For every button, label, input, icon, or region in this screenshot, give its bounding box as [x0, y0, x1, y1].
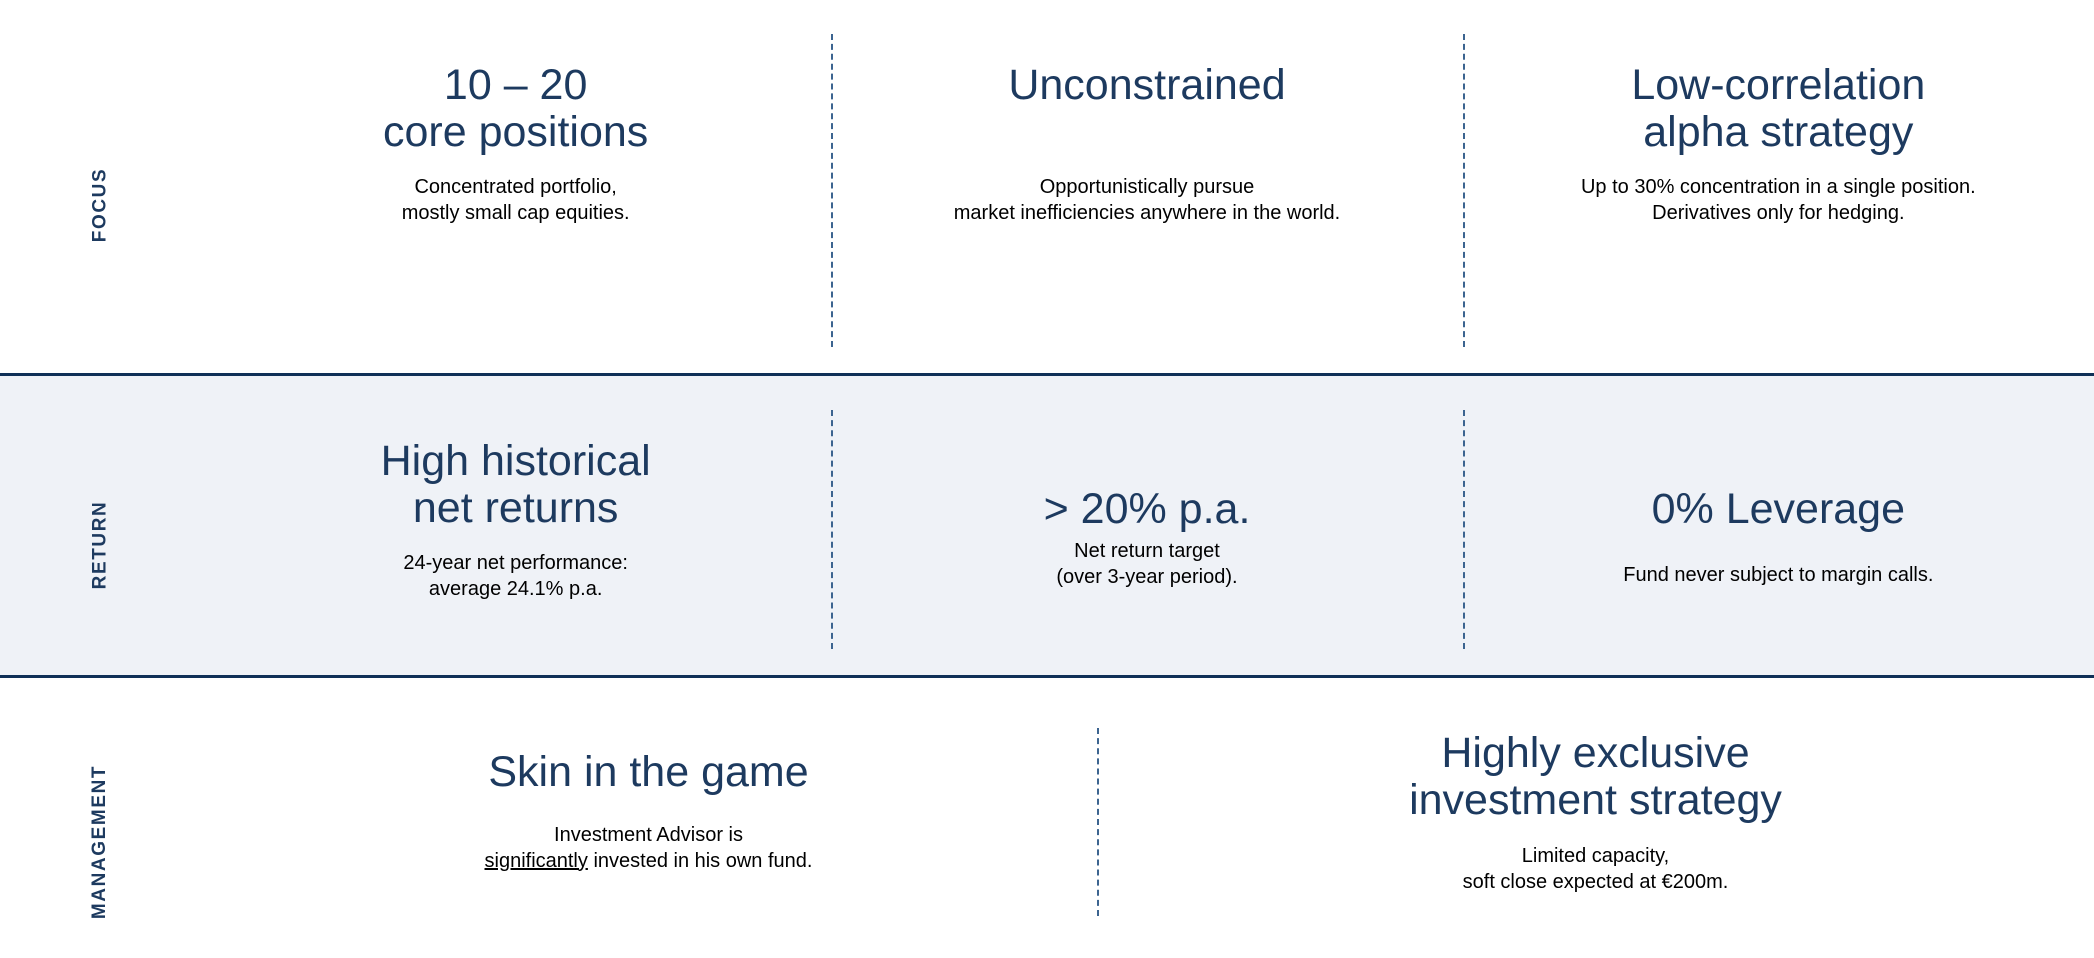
- row-management-columns: Skin in the game Investment Advisor is s…: [200, 678, 2094, 958]
- cell-focus-3-heading-line2: alpha strategy: [1643, 108, 1913, 156]
- cell-management-2-heading: Highly exclusive investment strategy: [1111, 730, 2080, 825]
- cell-management-1: Skin in the game Investment Advisor is s…: [200, 678, 1097, 958]
- cell-focus-1-body-line1: Concentrated portfolio,: [414, 176, 616, 198]
- cell-focus-1-heading: 10 – 20 core positions: [214, 62, 817, 157]
- cell-focus-3-body: Up to 30% concentration in a single posi…: [1477, 175, 2080, 226]
- cell-management-1-body-line1: Investment Advisor is: [554, 824, 743, 846]
- fund-highlights-board: FOCUS 10 – 20 core positions Concentrate…: [0, 0, 2094, 958]
- cell-management-2-heading-line1: Highly exclusive: [1441, 729, 1749, 777]
- cell-return-2-heading: > 20% p.a.: [845, 486, 1448, 533]
- cell-management-1-heading: Skin in the game: [214, 749, 1083, 796]
- cell-focus-1: 10 – 20 core positions Concentrated port…: [200, 0, 831, 373]
- cell-focus-3-heading: Low-correlation alpha strategy: [1477, 62, 2080, 157]
- cell-return-1: High historical net returns 24-year net …: [200, 376, 831, 675]
- cell-return-1-heading: High historical net returns: [214, 438, 817, 533]
- row-label-management: MANAGEMENT: [0, 678, 200, 958]
- cell-management-1-body-line2-rest: invested in his own fund.: [588, 850, 813, 872]
- cell-return-1-body-line1: 24-year net performance:: [403, 552, 628, 574]
- cell-focus-2-body-line2: market inefficiencies anywhere in the wo…: [954, 202, 1340, 224]
- cell-focus-3-body-line1: Up to 30% concentration in a single posi…: [1581, 176, 1976, 198]
- cell-management-2: Highly exclusive investment strategy Lim…: [1097, 678, 2094, 958]
- row-return: RETURN High historical net returns 24-ye…: [0, 373, 2094, 675]
- cell-management-1-heading-line1: Skin in the game: [488, 748, 808, 796]
- cell-focus-2-body: Opportunistically pursue market ineffici…: [845, 175, 1448, 226]
- cell-return-2-body-line1: Net return target: [1074, 540, 1220, 562]
- cell-management-1-body-emphasis: significantly: [485, 850, 588, 872]
- row-label-return: RETURN: [0, 376, 200, 675]
- cell-return-3-body: Fund never subject to margin calls.: [1477, 563, 2080, 589]
- cell-focus-3-heading-line1: Low-correlation: [1631, 61, 1925, 109]
- row-label-return-text: RETURN: [89, 500, 111, 589]
- cell-return-3-body-line1: Fund never subject to margin calls.: [1623, 564, 1933, 586]
- cell-return-3-heading: 0% Leverage: [1477, 486, 2080, 533]
- cell-focus-2-heading-line1: Unconstrained: [1008, 61, 1285, 109]
- cell-management-2-body-line2: soft close expected at €200m.: [1463, 871, 1729, 893]
- row-focus-columns: 10 – 20 core positions Concentrated port…: [200, 0, 2094, 373]
- row-label-management-text: MANAGEMENT: [89, 765, 111, 919]
- cell-return-2-body: Net return target (over 3-year period).: [845, 539, 1448, 590]
- cell-return-1-heading-line2: net returns: [413, 484, 619, 532]
- row-focus: FOCUS 10 – 20 core positions Concentrate…: [0, 0, 2094, 373]
- cell-focus-2: Unconstrained Opportunistically pursue m…: [831, 0, 1462, 373]
- row-return-columns: High historical net returns 24-year net …: [200, 376, 2094, 675]
- row-label-focus: FOCUS: [0, 0, 200, 373]
- cell-focus-1-body: Concentrated portfolio, mostly small cap…: [214, 175, 817, 226]
- cell-focus-2-heading: Unconstrained: [845, 62, 1448, 109]
- cell-focus-2-body-line1: Opportunistically pursue: [1040, 176, 1255, 198]
- cell-management-2-heading-line2: investment strategy: [1409, 776, 1782, 824]
- cell-return-2-heading-line1: > 20% p.a.: [1044, 485, 1251, 533]
- cell-return-2-body-line2: (over 3-year period).: [1056, 566, 1237, 588]
- cell-management-2-body: Limited capacity, soft close expected at…: [1111, 844, 2080, 895]
- row-label-focus-text: FOCUS: [89, 167, 111, 242]
- cell-return-1-heading-line1: High historical: [381, 437, 651, 485]
- cell-return-2: > 20% p.a. Net return target (over 3-yea…: [831, 376, 1462, 675]
- cell-management-2-body-line1: Limited capacity,: [1522, 845, 1669, 867]
- cell-return-3: 0% Leverage Fund never subject to margin…: [1463, 376, 2094, 675]
- cell-focus-1-body-line2: mostly small cap equities.: [402, 202, 630, 224]
- cell-focus-3: Low-correlation alpha strategy Up to 30%…: [1463, 0, 2094, 373]
- row-management: MANAGEMENT Skin in the game Investment A…: [0, 675, 2094, 958]
- cell-focus-1-heading-line1: 10 – 20: [444, 61, 587, 109]
- cell-return-3-heading-line1: 0% Leverage: [1652, 485, 1905, 533]
- cell-focus-1-heading-line2: core positions: [383, 108, 648, 156]
- cell-return-1-body-line2: average 24.1% p.a.: [429, 578, 602, 600]
- cell-focus-3-body-line2: Derivatives only for hedging.: [1652, 202, 1904, 224]
- cell-management-1-body: Investment Advisor is significantly inve…: [214, 823, 1083, 874]
- cell-return-1-body: 24-year net performance: average 24.1% p…: [214, 551, 817, 602]
